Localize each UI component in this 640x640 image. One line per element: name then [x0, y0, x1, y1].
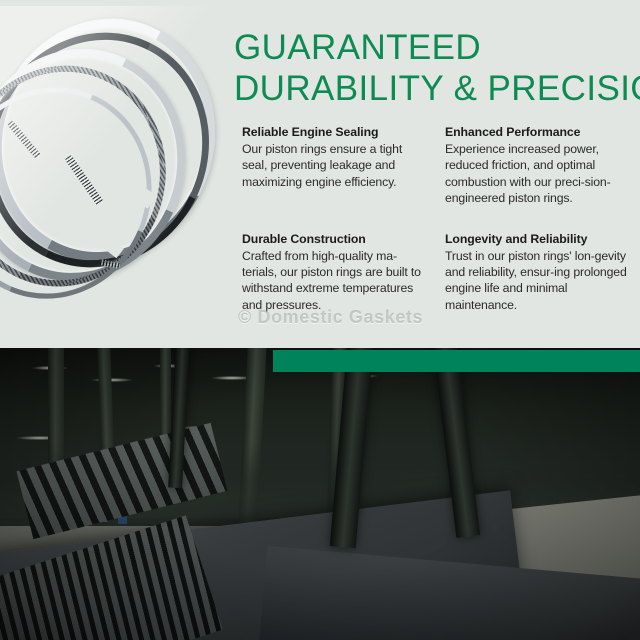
feature-item-reliable-engine-sealing: Reliable Engine Sealing Our piston rings…	[242, 124, 430, 207]
feature-title: Reliable Engine Sealing	[242, 124, 430, 140]
feature-title: Enhanced Performance	[445, 124, 633, 140]
feature-item-longevity-and-reliability: Longevity and Reliability Trust in our p…	[445, 231, 633, 314]
feature-title: Longevity and Reliability	[445, 231, 633, 247]
feature-body: Trust in our piston rings' lon-gevity an…	[445, 248, 633, 314]
feature-grid: Reliable Engine Sealing Our piston rings…	[242, 124, 626, 313]
product-banner: GUARANTEED DURABILITY & PRECISION Reliab…	[0, 0, 640, 640]
feature-title: Durable Construction	[242, 231, 430, 247]
feature-body: Crafted from high-quality ma-terials, ou…	[242, 248, 430, 314]
piston-rings-product-image	[0, 6, 232, 336]
top-content-section: GUARANTEED DURABILITY & PRECISION Reliab…	[0, 0, 640, 348]
feature-item-enhanced-performance: Enhanced Performance Experience increase…	[445, 124, 633, 207]
green-accent-bar	[273, 350, 640, 372]
headline-line-1: GUARANTEED	[234, 27, 634, 68]
factory-forging-image: 5	[0, 348, 640, 640]
feature-body: Our piston rings ensure a tight seal, pr…	[242, 141, 430, 190]
headline-line-2: DURABILITY & PRECISION	[234, 68, 634, 109]
feature-item-durable-construction: Durable Construction Crafted from high-q…	[242, 231, 430, 314]
feature-body: Experience increased power, reduced fric…	[445, 141, 633, 207]
headline: GUARANTEED DURABILITY & PRECISION	[234, 27, 634, 109]
